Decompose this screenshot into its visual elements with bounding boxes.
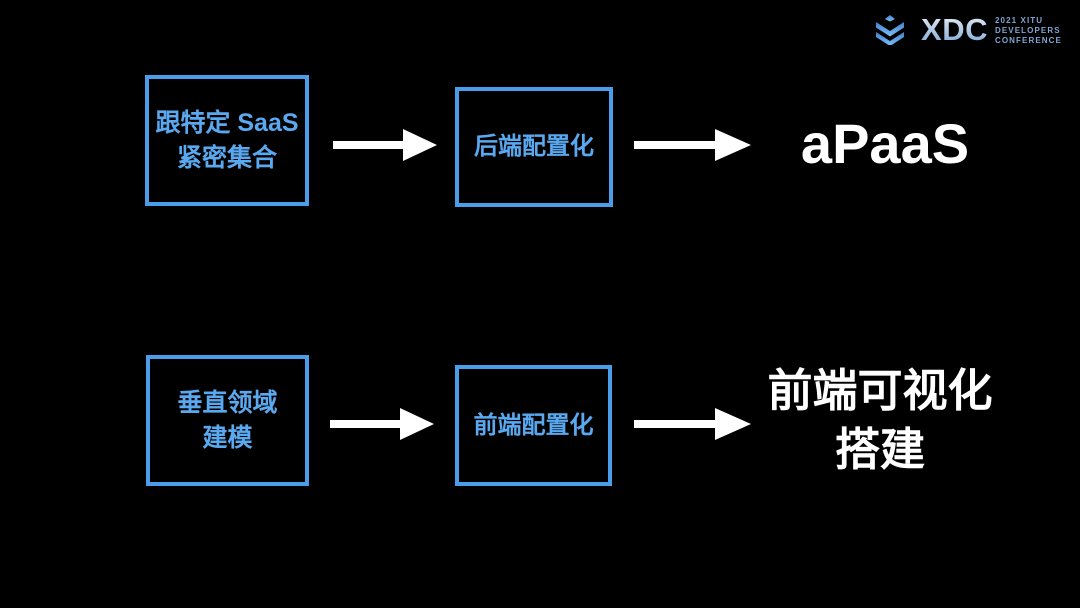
brand-subtitle-line-1: 2021 XITU <box>995 16 1062 25</box>
flow-box-backend-config: 后端配置化 <box>455 87 613 207</box>
flow-box-backend-config-label: 后端配置化 <box>474 130 594 163</box>
flow-box-frontend-config-label: 前端配置化 <box>474 409 594 442</box>
flow-box-saas-integration: 跟特定 SaaS 紧密集合 <box>145 75 309 206</box>
flow-box-saas-integration-label: 跟特定 SaaS 紧密集合 <box>155 106 298 175</box>
double-chevron-down-icon <box>873 13 907 45</box>
arrow-backend-to-apaas <box>634 123 751 167</box>
brand-subtitle: 2021 XITU DEVELOPERS CONFERENCE <box>995 14 1062 45</box>
arrow-domain-to-frontend <box>330 402 434 446</box>
outcome-apaas: aPaaS <box>760 108 1010 181</box>
flow-box-domain-modeling: 垂直领域 建模 <box>146 355 309 486</box>
brand-subtitle-line-3: CONFERENCE <box>995 36 1062 45</box>
brand-wordmark: XDC <box>921 14 988 45</box>
brand-subtitle-line-2: DEVELOPERS <box>995 26 1062 35</box>
flow-box-domain-modeling-label: 垂直领域 建模 <box>177 386 277 455</box>
slide-canvas: XDC 2021 XITU DEVELOPERS CONFERENCE 跟特定 … <box>0 0 1080 608</box>
flow-box-frontend-config: 前端配置化 <box>455 365 612 486</box>
arrow-saas-to-backend <box>333 123 437 167</box>
brand-wordgroup: XDC 2021 XITU DEVELOPERS CONFERENCE <box>921 14 1062 45</box>
brand-logo: XDC 2021 XITU DEVELOPERS CONFERENCE <box>873 8 1062 50</box>
outcome-frontend-visual-build: 前端可视化 搭建 <box>730 362 1030 479</box>
